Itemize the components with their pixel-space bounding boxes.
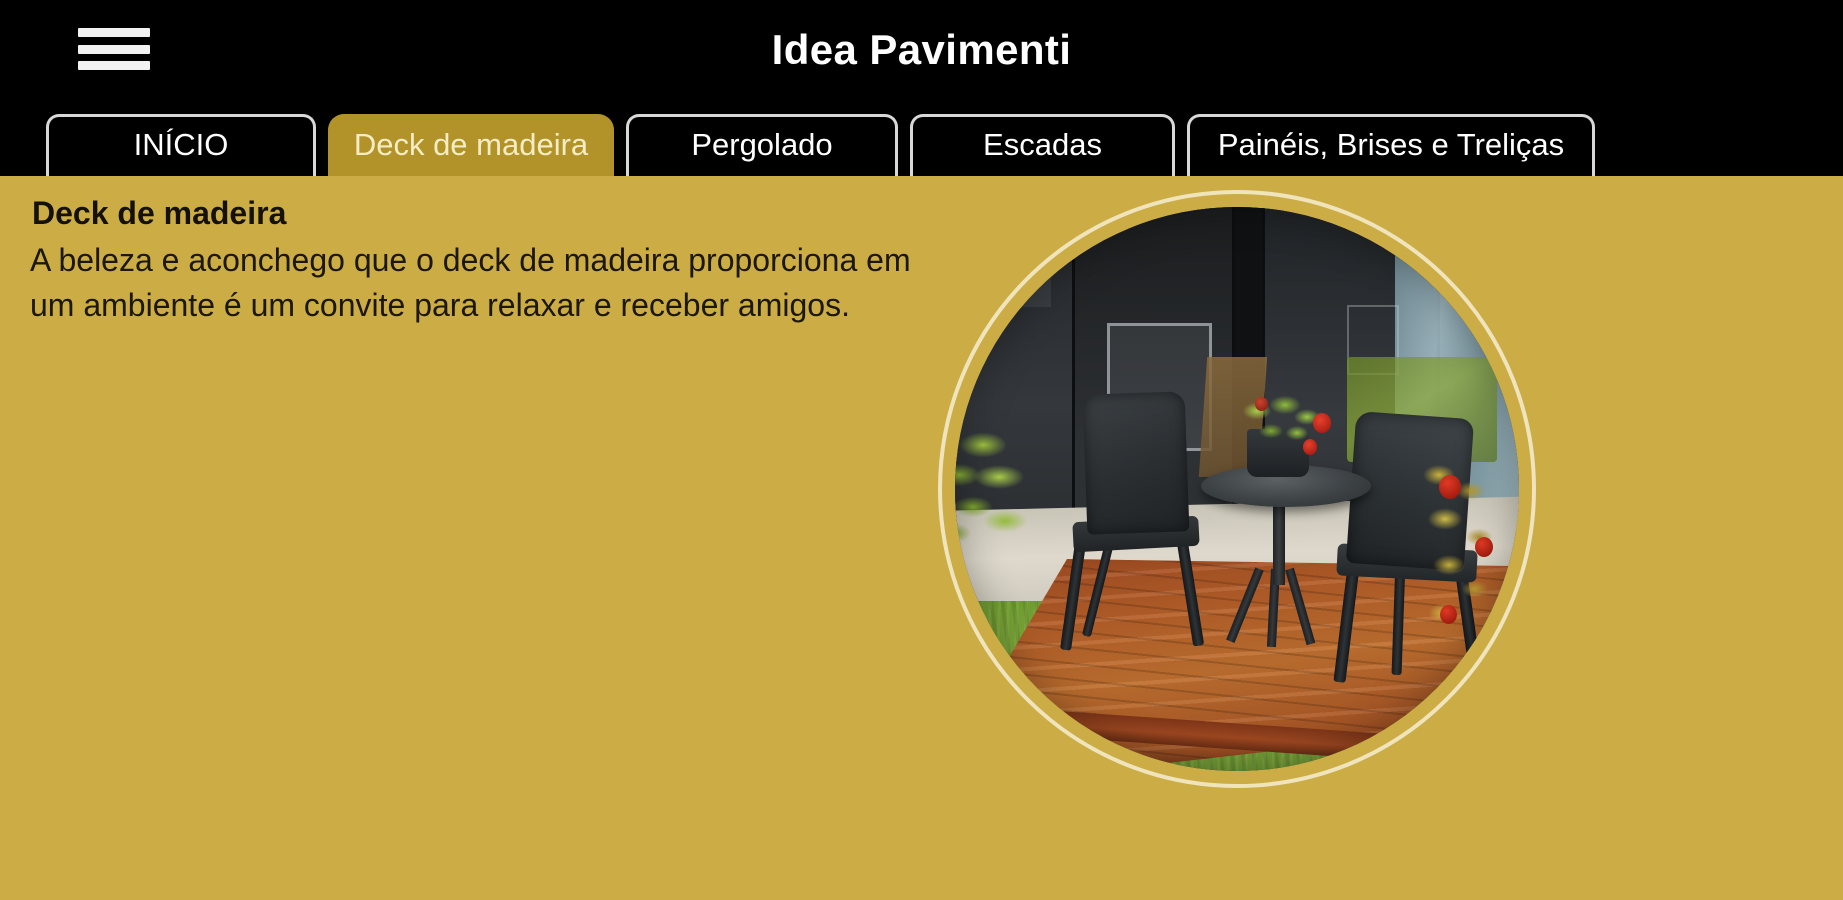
app-root: Idea Pavimenti INÍCIO Deck de madeira Pe… bbox=[0, 0, 1843, 900]
photo-table-stem bbox=[1273, 499, 1285, 585]
app-header: Idea Pavimenti INÍCIO Deck de madeira Pe… bbox=[0, 0, 1843, 176]
tab-deck-de-madeira[interactable]: Deck de madeira bbox=[328, 114, 614, 176]
photo-flower-2 bbox=[1303, 439, 1317, 455]
photo-reflection-3 bbox=[955, 277, 1051, 307]
photo-shrub bbox=[955, 425, 1063, 555]
photo-flower-1 bbox=[1313, 413, 1331, 433]
deck-photo-frame bbox=[938, 190, 1536, 788]
section-description: A beleza e aconchego que o deck de madei… bbox=[30, 238, 960, 328]
section-heading: Deck de madeira bbox=[32, 193, 286, 233]
photo-red-flower-1 bbox=[1439, 475, 1461, 499]
tab-escadas[interactable]: Escadas bbox=[910, 114, 1175, 176]
page-title: Idea Pavimenti bbox=[0, 24, 1843, 76]
photo-red-flower-3 bbox=[1440, 605, 1457, 624]
tab-inicio[interactable]: INÍCIO bbox=[46, 114, 316, 176]
deck-photo bbox=[955, 207, 1519, 771]
tab-paineis-brises-e-telicas[interactable]: Painéis, Brises e Treliças bbox=[1187, 114, 1595, 176]
photo-flower-3 bbox=[1255, 397, 1268, 411]
photo-red-flower-2 bbox=[1475, 537, 1493, 557]
photo-right-plant bbox=[1409, 457, 1519, 647]
tab-bar: INÍCIO Deck de madeira Pergolado Escadas… bbox=[0, 97, 1843, 176]
photo-chair-left-back bbox=[1083, 391, 1190, 534]
tab-pergolado[interactable]: Pergolado bbox=[626, 114, 898, 176]
content-panel: Deck de madeira A beleza e aconchego que… bbox=[0, 176, 1843, 900]
